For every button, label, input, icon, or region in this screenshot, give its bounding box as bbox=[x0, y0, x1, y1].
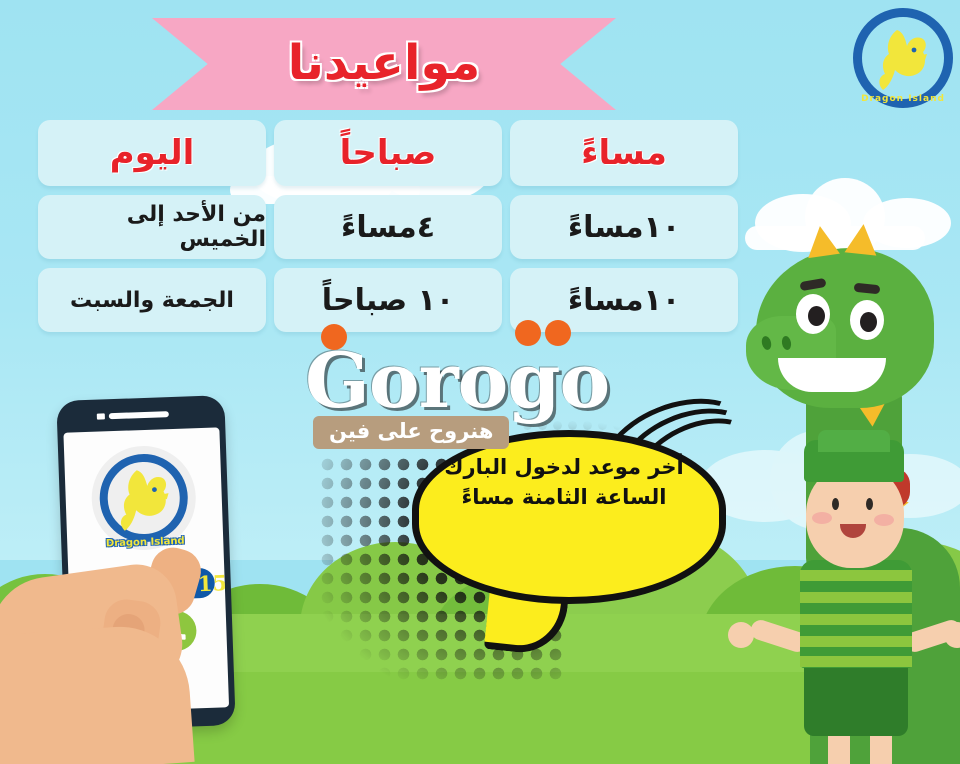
table-row: ١٠مساءً ٤مساءً من الأحد إلى الخميس bbox=[38, 195, 738, 259]
cell-evening: ١٠مساءً bbox=[510, 195, 738, 259]
banner-ribbon: مواعيدنا bbox=[152, 18, 616, 114]
speaker-icon bbox=[109, 411, 169, 419]
table-row: ١٠مساءً ١٠ صباحاً الجمعة والسبت bbox=[38, 268, 738, 332]
cell-day: من الأحد إلى الخميس bbox=[38, 195, 266, 259]
header-label-day: اليوم bbox=[110, 133, 195, 173]
boy-mascot bbox=[770, 440, 950, 764]
schedule-table: مساءً صباحاً اليوم ١٠مساءً ٤مساءً من الأ… bbox=[38, 120, 738, 341]
page-title: مواعيدنا bbox=[152, 18, 616, 114]
camera-icon bbox=[97, 413, 105, 419]
header-cell-morning: صباحاً bbox=[274, 120, 502, 186]
dragon-head-icon bbox=[853, 8, 953, 108]
cell-morning: ٤مساءً bbox=[274, 195, 502, 259]
dragon-island-logo: Dragon Island bbox=[853, 8, 953, 108]
table-header-row: مساءً صباحاً اليوم bbox=[38, 120, 738, 186]
header-cell-day: اليوم bbox=[38, 120, 266, 186]
hand-holding-phone bbox=[0, 530, 250, 764]
poster-canvas: مواعيدنا Dragon Island مساءً صباحاً اليو… bbox=[0, 0, 960, 764]
header-cell-evening: مساءً bbox=[510, 120, 738, 186]
logo-wordmark: Dragon Island bbox=[853, 94, 953, 104]
bubble-line-2: الساعة الثامنة مساءً bbox=[424, 482, 704, 512]
bubble-line-1: أخر موعد لدخول البارك bbox=[424, 452, 704, 482]
bubble-text: أخر موعد لدخول البارك الساعة الثامنة مسا… bbox=[424, 452, 704, 513]
cell-morning: ١٠ صباحاً bbox=[274, 268, 502, 332]
header-label-evening: مساءً bbox=[581, 133, 667, 173]
header-label-morning: صباحاً bbox=[340, 133, 437, 173]
cell-evening: ١٠مساءً bbox=[510, 268, 738, 332]
cell-day: الجمعة والسبت bbox=[38, 268, 266, 332]
speech-bubble: أخر موعد لدخول البارك الساعة الثامنة مسا… bbox=[400, 420, 730, 635]
palm-lower bbox=[0, 622, 195, 764]
